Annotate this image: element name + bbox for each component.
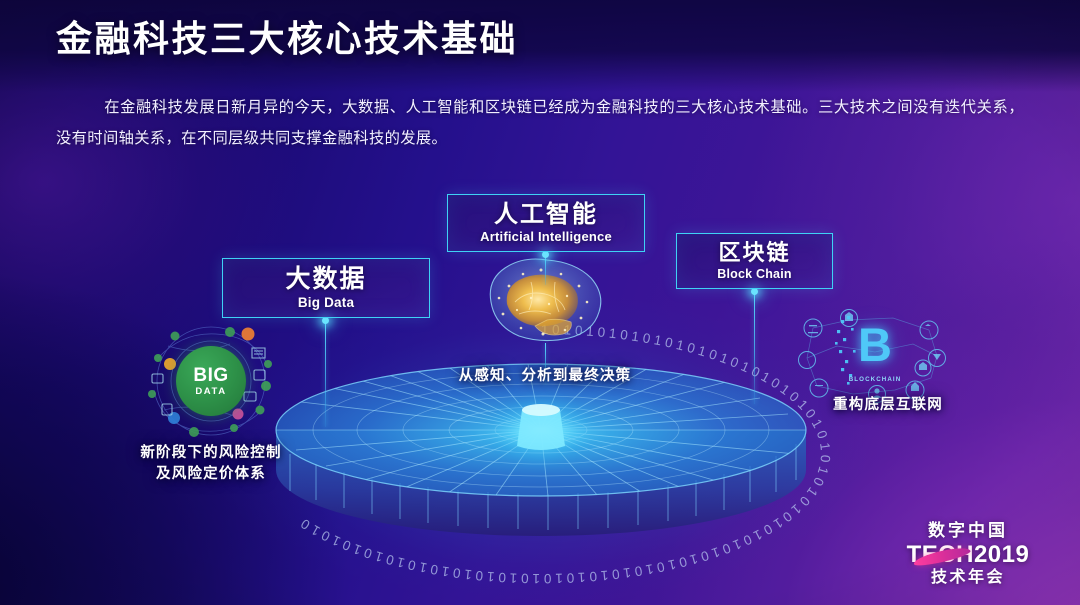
- big-data-core-word-top: BIG: [193, 366, 228, 385]
- logo-line-bottom: 技术年会: [884, 568, 1052, 587]
- pillar-box-block-chain[interactable]: 区块链 Block Chain: [676, 233, 833, 289]
- connector-dot-ai: [542, 251, 549, 258]
- pillar-title-cn-ai: 人工智能: [494, 202, 598, 228]
- pillar-box-big-data[interactable]: 大数据 Big Data: [222, 258, 430, 318]
- caption-block-chain-line1: 重构底层互联网: [798, 395, 978, 416]
- connector-stem-ai-upper: [545, 255, 546, 285]
- connector-stem-block-chain: [754, 292, 755, 404]
- pillar-title-cn-block-chain: 区块链: [718, 241, 790, 265]
- connector-dot-block-chain: [751, 288, 758, 295]
- caption-ai-line1: 从感知、分析到最终决策: [425, 366, 665, 387]
- blockchain-icon-cluster: B BLOCKCHAIN: [797, 306, 947, 406]
- intro-paragraph-text: 在金融科技发展日新月异的今天，大数据、人工智能和区块链已经成为金融科技的三大核心…: [56, 99, 1024, 147]
- pillar-title-cn-big-data: 大数据: [285, 266, 366, 293]
- big-data-core-badge: BIG DATA: [176, 346, 246, 416]
- presentation-slide: 金融科技三大核心技术基础 在金融科技发展日新月异的今天，大数据、人工智能和区块链…: [0, 0, 1080, 605]
- intro-paragraph: 在金融科技发展日新月异的今天，大数据、人工智能和区块链已经成为金融科技的三大核心…: [56, 92, 1024, 155]
- pillar-title-en-ai: Artificial Intelligence: [480, 229, 612, 244]
- pillar-title-en-block-chain: Block Chain: [717, 267, 791, 281]
- conference-logo: 数字中国 TECH2019 技术年会: [884, 521, 1052, 587]
- big-data-icon-cluster: BIG DATA: [134, 318, 290, 440]
- blockchain-label: BLOCKCHAIN: [837, 376, 913, 383]
- pillar-box-artificial-intelligence[interactable]: 人工智能 Artificial Intelligence: [447, 194, 645, 252]
- page-title: 金融科技三大核心技术基础: [56, 18, 518, 60]
- pillar-title-en-big-data: Big Data: [298, 295, 354, 310]
- blockchain-b-symbol: B: [849, 314, 901, 376]
- caption-big-data: 新阶段下的风险控制 及风险定价体系: [96, 443, 326, 484]
- connector-dot-big-data: [322, 317, 329, 324]
- logo-line-mid-wrapper: TECH2019: [907, 542, 1030, 569]
- caption-big-data-line2: 及风险定价体系: [96, 464, 326, 485]
- caption-big-data-line1: 新阶段下的风险控制: [96, 443, 326, 464]
- caption-block-chain: 重构底层互联网: [798, 395, 978, 416]
- logo-line-top: 数字中国: [884, 521, 1052, 541]
- big-data-core-word-bottom: DATA: [195, 387, 226, 397]
- connector-stem-big-data: [325, 321, 326, 427]
- caption-ai: 从感知、分析到最终决策: [425, 366, 665, 387]
